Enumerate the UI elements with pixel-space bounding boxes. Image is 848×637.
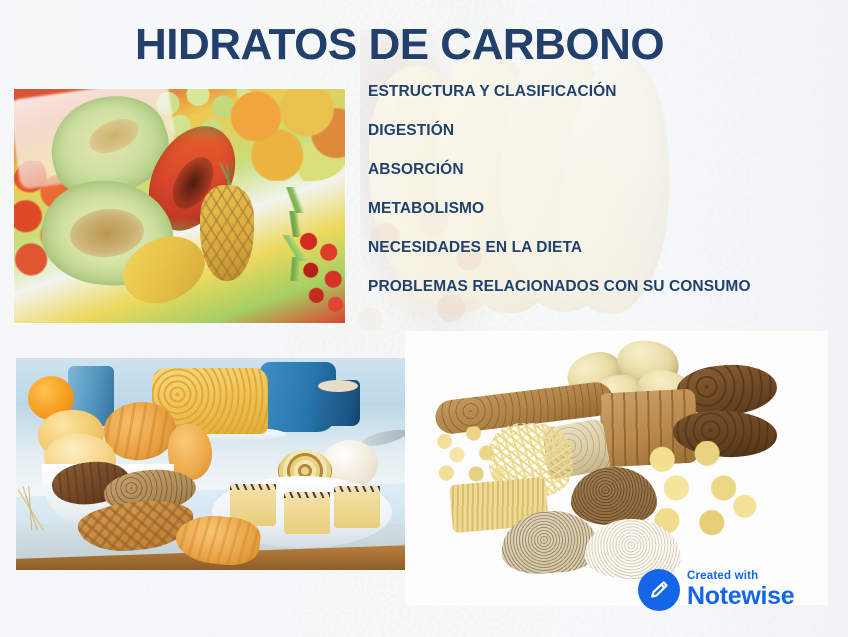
presentation-slide: HIDRATOS DE CARBONO ESTRUCTURA Y CLASIFI… (0, 0, 848, 637)
list-item: NECESIDADES EN LA DIETA (368, 240, 828, 256)
list-item: METABOLISMO (368, 201, 828, 217)
cup-rim-shape (318, 380, 358, 392)
page-title: HIDRATOS DE CARBONO (135, 20, 664, 70)
cake-slice-shape (284, 492, 330, 534)
cake-slice-shape (334, 486, 380, 528)
pineapple-shape (200, 185, 254, 281)
list-item: ESTRUCTURA Y CLASIFICACIÓN (368, 84, 828, 100)
topic-list: ESTRUCTURA Y CLASIFICACIÓN DIGESTIÓN ABS… (368, 84, 828, 318)
bakery-spread-photo (16, 358, 408, 570)
fruit-platter-photo (14, 89, 345, 323)
berries-shape (294, 227, 345, 317)
notewise-brand-label: Notewise (687, 584, 794, 609)
pencil-icon (638, 569, 680, 611)
list-item: DIGESTIÓN (368, 123, 828, 139)
notewise-label-group: Created with Notewise (687, 571, 794, 609)
grains-pasta-photo (405, 331, 828, 605)
wheat-stalks-shape (18, 486, 44, 530)
list-item: ABSORCIÓN (368, 162, 828, 178)
notewise-watermark[interactable]: Created with Notewise (638, 569, 794, 611)
list-item: PROBLEMAS RELACIONADOS CON SU CONSUMO (368, 279, 828, 295)
